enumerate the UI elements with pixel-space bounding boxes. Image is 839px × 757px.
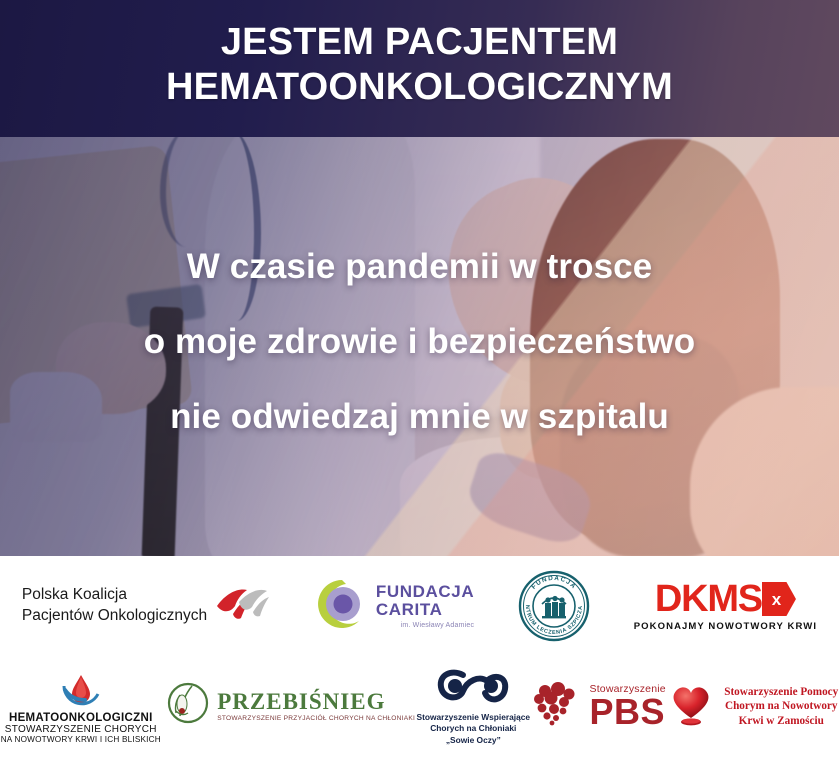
logo-przebisnieg-line2: STOWARZYSZENIE PRZYJACIÓŁ CHORYCH NA CHŁ… [217, 716, 415, 723]
logo-hematoonkologiczni[interactable]: HEMATOONKOLOGICZNI STOWARZYSZENIE CHORYC… [1, 656, 161, 757]
poster: JESTEM PACJENTEM HEMATOONKOLOGICZNYM [0, 0, 839, 757]
circular-seal-people-icon: FUNDACJA CENTRUM LECZENIA SZPICZAKA [518, 570, 590, 642]
message-line-1: W czasie pandemii w trosce [187, 249, 653, 284]
logo-polska-koalicja-label: Polska Koalicja Pacjentów Onkologicznych [22, 585, 207, 627]
logo-sowie-oczy[interactable]: Stowarzyszenie Wspierające Chorych na Ch… [417, 656, 531, 757]
logo-row-2: HEMATOONKOLOGICZNI STOWARZYSZENIE CHORYC… [0, 656, 839, 757]
logo-pbs-line2: PBS [589, 695, 665, 729]
logo-hemat-line3: NA NOWOTWORY KRWI I ICH BLISKICH [1, 735, 161, 744]
logo-zamosc-label: Stowarzyszenie Pomocy Chorym na Nowotwor… [724, 685, 838, 729]
logo-hemat-line2: STOWARZYSZENIE CHORYCH [5, 724, 157, 735]
logo-dkms[interactable]: DKMS x POKONAJMY NOWOTWORY KRWI [634, 556, 817, 656]
message-line-2: o moje zdrowie i bezpieczeństwo [144, 324, 696, 359]
swallow-birds-icon [213, 584, 271, 629]
dkms-arrow-badge-icon: x [762, 582, 796, 616]
logo-dkms-word: DKMS [655, 580, 762, 618]
logo-przebisnieg-line1: PRZEBIŚNIEG [217, 690, 415, 714]
heart-of-circles-icon [531, 680, 583, 733]
logo-centrum-leczenia-szpiczaka[interactable]: FUNDACJA CENTRUM LECZENIA SZPICZAKA [518, 556, 590, 656]
red-heart-icon [667, 680, 715, 733]
logo-band: Polska Koalicja Pacjentów Onkologicznych [0, 556, 839, 757]
logo-polska-koalicja[interactable]: Polska Koalicja Pacjentów Onkologicznych [22, 556, 271, 656]
logo-hemat-line1: HEMATOONKOLOGICZNI [9, 712, 153, 724]
logo-carita-line3: im. Wiesławy Adamiec [376, 622, 474, 629]
logo-carita-line2: CARITA [376, 601, 474, 619]
hand-blood-drop-icon [58, 670, 104, 710]
circle-crescent-icon [315, 577, 369, 636]
logo-stowarzyszenie-zamosc[interactable]: Stowarzyszenie Pomocy Chorym na Nowotwor… [667, 656, 838, 757]
logo-dkms-tagline: POKONAJMY NOWOTWORY KRWI [634, 621, 817, 632]
photo-band: W czasie pandemii w trosce o moje zdrowi… [0, 137, 839, 556]
owl-eyes-icon [433, 667, 513, 709]
logo-przebisnieg[interactable]: PRZEBIŚNIEG STOWARZYSZENIE PRZYJACIÓŁ CH… [162, 656, 415, 757]
page-title: JESTEM PACJENTEM HEMATOONKOLOGICZNYM [0, 20, 839, 110]
message-block: W czasie pandemii w trosce o moje zdrowi… [0, 137, 839, 556]
logo-fundacja-carita[interactable]: FUNDACJA CARITA im. Wiesławy Adamiec [315, 556, 474, 656]
logo-carita-line1: FUNDACJA [376, 583, 474, 601]
logo-sowie-oczy-label: Stowarzyszenie Wspierające Chorych na Ch… [417, 712, 531, 746]
logo-dkms-badge-letter: x [772, 591, 781, 608]
poster-header: JESTEM PACJENTEM HEMATOONKOLOGICZNYM [0, 0, 839, 137]
snowdrop-flower-icon [162, 681, 214, 732]
message-line-3: nie odwiedzaj mnie w szpitalu [170, 399, 669, 434]
logo-pbs[interactable]: Stowarzyszenie PBS [531, 656, 665, 757]
logo-row-1: Polska Koalicja Pacjentów Onkologicznych [0, 556, 839, 656]
